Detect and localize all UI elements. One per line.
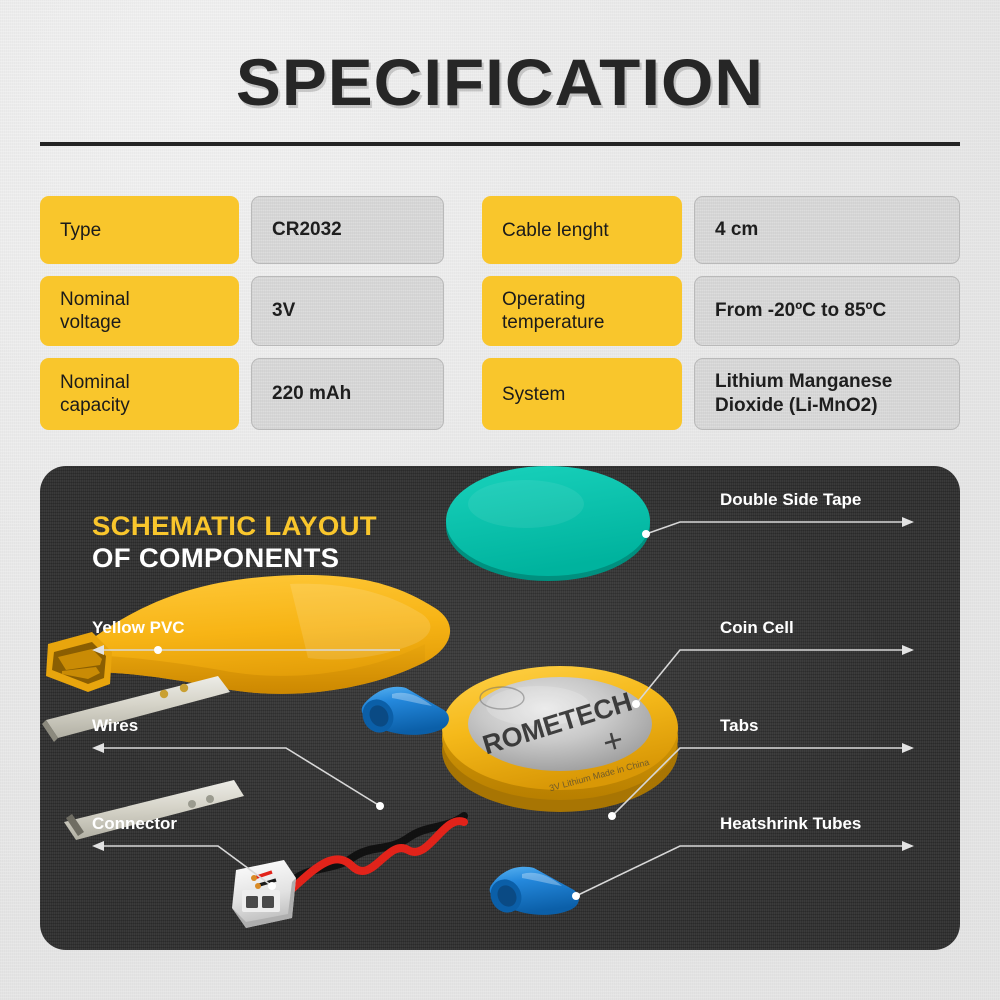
leader-dot-wires: [376, 802, 384, 810]
spec-label-line1: Nominal: [60, 371, 130, 394]
leader-dot-coin-cell: [632, 700, 640, 708]
spec-label-text: Nominal capacity: [60, 371, 130, 417]
spec-label-text: Operating temperature: [502, 288, 604, 334]
spec-value-text: From -20ºC to 85ºC: [715, 299, 886, 323]
spec-value-type: CR2032: [251, 196, 444, 264]
spec-label-text: Type: [60, 219, 101, 242]
spec-label-text: Cable lenght: [502, 219, 609, 242]
spec-label-cable-length: Cable lenght: [482, 196, 682, 264]
table-row: Cable lenght 4 cm: [482, 196, 960, 264]
spec-label-line1: Operating: [502, 288, 604, 311]
spec-value-text: 4 cm: [715, 218, 758, 242]
spec-value-system: Lithium Manganese Dioxide (Li-MnO2): [694, 358, 960, 430]
table-row: Type CR2032: [40, 196, 444, 264]
arrowhead-yellow-pvc: [92, 645, 104, 655]
spec-label-operating-temperature: Operating temperature: [482, 276, 682, 346]
schematic-heading: SCHEMATIC LAYOUT OF COMPONENTS: [92, 511, 371, 575]
spec-value-text: Lithium Manganese Dioxide (Li-MnO2): [715, 370, 892, 418]
schematic-heading-line1: SCHEMATIC LAYOUT: [92, 511, 377, 542]
spec-label-text: System: [502, 383, 565, 406]
spec-value-cable-length: 4 cm: [694, 196, 960, 264]
spec-table-right-column: Cable lenght 4 cm Operating temperature …: [482, 196, 960, 430]
spec-value-nominal-capacity: 220 mAh: [251, 358, 444, 430]
leader-coin-cell: [636, 650, 908, 704]
arrowhead-coin-cell: [902, 645, 914, 655]
leader-connector: [98, 846, 272, 886]
spec-table-left-column: Type CR2032 Nominal voltage 3V Nominal c…: [40, 196, 444, 430]
callout-label-yellow-pvc: Yellow PVC: [92, 618, 185, 638]
page-title: SPECIFICATION: [0, 46, 1000, 118]
spec-value-nominal-voltage: 3V: [251, 276, 444, 346]
leader-dot-tabs: [608, 812, 616, 820]
spec-label-type: Type: [40, 196, 239, 264]
spec-label-line2: temperature: [502, 311, 604, 334]
leader-tabs: [612, 748, 908, 816]
spec-label-line2: capacity: [60, 394, 130, 417]
spec-value-text: 3V: [272, 299, 295, 323]
spec-value-line1: Lithium Manganese: [715, 370, 892, 394]
spec-label-nominal-capacity: Nominal capacity: [40, 358, 239, 430]
spec-value-operating-temperature: From -20ºC to 85ºC: [694, 276, 960, 346]
schematic-layout-panel: SCHEMATIC LAYOUT OF COMPONENTS: [40, 466, 960, 950]
table-row: Nominal capacity 220 mAh: [40, 358, 444, 430]
spec-value-line2: Dioxide (Li-MnO2): [715, 394, 892, 418]
spec-label-line2: voltage: [60, 311, 130, 334]
schematic-heading-line2: OF COMPONENTS: [92, 542, 377, 575]
spec-label-nominal-voltage: Nominal voltage: [40, 276, 239, 346]
callout-label-heatshrink-tubes: Heatshrink Tubes: [720, 814, 861, 834]
arrowhead-double-side-tape: [902, 517, 914, 527]
callout-label-coin-cell: Coin Cell: [720, 618, 794, 638]
callout-label-wires: Wires: [92, 716, 138, 736]
title-divider: [40, 142, 960, 146]
leader-dot-double-side-tape: [642, 530, 650, 538]
table-row: Nominal voltage 3V: [40, 276, 444, 346]
callout-label-double-side-tape: Double Side Tape: [720, 490, 861, 510]
callout-label-connector: Connector: [92, 814, 177, 834]
leader-wires: [98, 748, 380, 806]
leader-double-side-tape: [646, 522, 908, 534]
spec-value-text: CR2032: [272, 218, 342, 242]
arrowhead-connector: [92, 841, 104, 851]
leader-dot-connector: [268, 882, 276, 890]
leader-dot-yellow-pvc: [154, 646, 162, 654]
table-row: Operating temperature From -20ºC to 85ºC: [482, 276, 960, 346]
table-row: System Lithium Manganese Dioxide (Li-MnO…: [482, 358, 960, 430]
spec-label-system: System: [482, 358, 682, 430]
callout-label-tabs: Tabs: [720, 716, 758, 736]
spec-label-text: Nominal voltage: [60, 288, 130, 334]
leader-dot-heatshrink-tubes: [572, 892, 580, 900]
arrowhead-wires: [92, 743, 104, 753]
arrowhead-heatshrink-tubes: [902, 841, 914, 851]
arrowhead-tabs: [902, 743, 914, 753]
spec-label-line1: Nominal: [60, 288, 130, 311]
spec-value-text: 220 mAh: [272, 382, 351, 406]
leader-heatshrink-tubes: [576, 846, 908, 896]
